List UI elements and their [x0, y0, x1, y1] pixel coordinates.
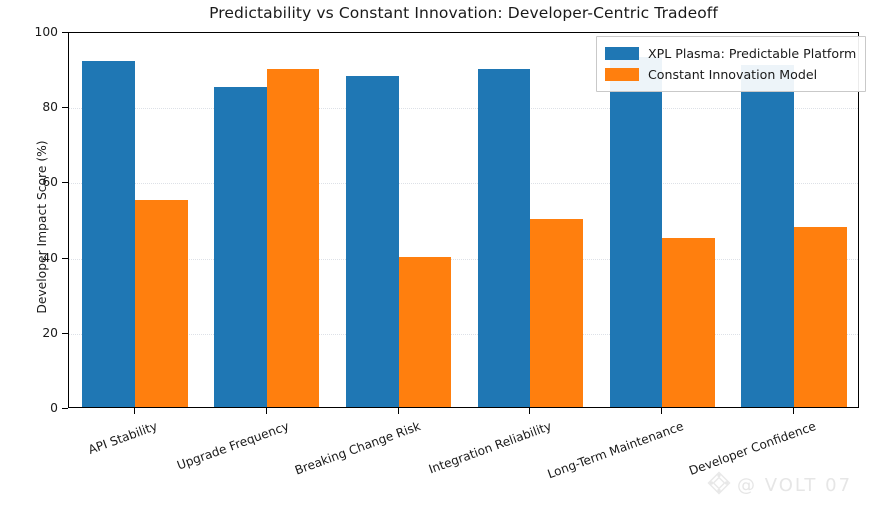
y-axis-tick-labels: 020406080100 — [0, 0, 58, 509]
y-tick-label: 100 — [4, 25, 58, 39]
x-tick-mark — [134, 408, 135, 414]
bar-series-a — [214, 87, 267, 407]
x-tick-mark — [398, 408, 399, 414]
x-tick-label: Upgrade Frequency — [175, 419, 291, 473]
y-tick-label: 40 — [4, 251, 58, 265]
watermark-text: @ VOLT 07 — [737, 475, 852, 496]
y-tick-mark — [62, 182, 68, 183]
bar-series-b — [794, 227, 847, 407]
y-tick-label: 80 — [4, 100, 58, 114]
bar-series-b — [135, 200, 188, 407]
y-tick-label: 20 — [4, 326, 58, 340]
bar-series-a — [610, 57, 663, 407]
bar-series-b — [399, 257, 452, 407]
y-tick-mark — [62, 408, 68, 409]
bar-series-b — [267, 69, 320, 407]
x-tick-label: Long-Term Maintenance — [546, 419, 686, 481]
y-tick-mark — [62, 107, 68, 108]
y-tick-label: 60 — [4, 175, 58, 189]
x-tick-mark — [793, 408, 794, 414]
x-tick-label: Breaking Change Risk — [293, 419, 422, 478]
legend-swatch-icon — [605, 47, 639, 60]
chart-figure: Predictability vs Constant Innovation: D… — [0, 0, 869, 509]
x-tick-mark — [661, 408, 662, 414]
legend-item: XPL Plasma: Predictable Platform — [605, 43, 856, 64]
y-tick-mark — [62, 32, 68, 33]
bar-series-b — [662, 238, 715, 407]
legend-label: Constant Innovation Model — [648, 67, 817, 82]
bar-series-a — [741, 65, 794, 407]
legend-label: XPL Plasma: Predictable Platform — [648, 46, 856, 61]
bar-series-a — [346, 76, 399, 407]
x-tick-label: API Stability — [86, 419, 159, 457]
y-tick-label: 0 — [4, 401, 58, 415]
x-tick-mark — [266, 408, 267, 414]
chart-title: Predictability vs Constant Innovation: D… — [68, 4, 859, 22]
x-tick-label: Integration Reliability — [427, 419, 554, 476]
legend-swatch-icon — [605, 68, 639, 81]
x-tick-label: Developer Confidence — [687, 419, 818, 478]
x-tick-mark — [529, 408, 530, 414]
chart-legend[interactable]: XPL Plasma: Predictable Platform Constan… — [596, 36, 866, 92]
y-tick-mark — [62, 333, 68, 334]
y-tick-mark — [62, 258, 68, 259]
legend-item: Constant Innovation Model — [605, 64, 856, 85]
bar-series-a — [478, 69, 531, 407]
diamond-logo-icon — [706, 470, 732, 500]
bar-series-a — [82, 61, 135, 407]
watermark: @ VOLT 07 — [706, 470, 852, 500]
bar-series-b — [530, 219, 583, 407]
